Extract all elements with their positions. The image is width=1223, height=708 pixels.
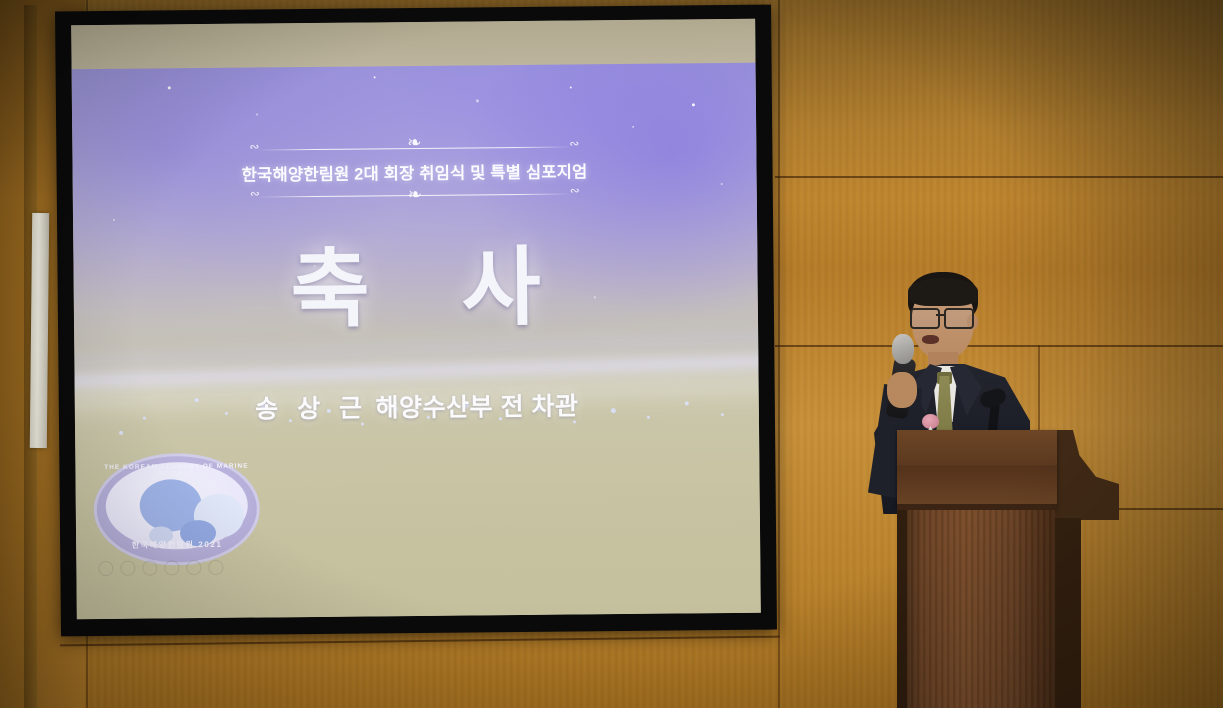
glasses-icon bbox=[910, 308, 976, 325]
sparkle bbox=[256, 114, 258, 116]
divider-top: ❧ ∾ ∾ bbox=[249, 138, 579, 157]
logo-watermark-icons bbox=[98, 560, 228, 577]
podium-top bbox=[897, 430, 1057, 508]
sparkle bbox=[113, 219, 115, 221]
watermark-circle-icon bbox=[120, 561, 135, 576]
sparkle bbox=[692, 103, 695, 106]
logo-arc-top-text: THE KOREAN ACADEMY OF MARINE SCIENCE bbox=[93, 463, 259, 479]
watermark-circle-icon bbox=[98, 561, 113, 576]
microphone-icon bbox=[892, 334, 914, 364]
sparkle bbox=[374, 76, 376, 78]
sparkle bbox=[632, 126, 634, 128]
podium-grain-texture bbox=[905, 510, 1055, 708]
speaker-rank: 차관 bbox=[531, 392, 578, 420]
hair-front bbox=[908, 278, 978, 306]
slide-main-title: 축 사 bbox=[73, 243, 758, 336]
speaker-affiliation: 해양수산부 전 bbox=[375, 393, 524, 422]
mouth bbox=[922, 335, 939, 344]
podium bbox=[897, 430, 1119, 708]
fleuron-icon: ❧ bbox=[408, 186, 422, 203]
hand bbox=[887, 372, 917, 408]
fleuron-icon: ❧ bbox=[407, 134, 421, 151]
glasses-lens-right bbox=[944, 308, 974, 329]
curl-left-icon: ∾ bbox=[249, 140, 259, 152]
academy-logo: THE KOREAN ACADEMY OF MARINE SCIENCE 한국해… bbox=[93, 453, 260, 567]
curl-right-icon: ∾ bbox=[570, 184, 580, 196]
logo-arc-bottom-text: 한국해양한림원 2021 bbox=[94, 539, 260, 552]
watermark-circle-icon bbox=[208, 560, 223, 575]
watermark-circle-icon bbox=[164, 560, 179, 575]
sparkle bbox=[119, 431, 123, 435]
podium-left-edge bbox=[897, 510, 907, 708]
sparkle bbox=[476, 99, 479, 102]
wall-white-strip bbox=[30, 213, 49, 448]
slide-header: ❧ ∾ ∾ 한국해양한림원 2대 회장 취임식 및 특별 심포지엄 ❧ ∾ ∾ bbox=[72, 137, 757, 207]
projection-screen: ❧ ∾ ∾ 한국해양한림원 2대 회장 취임식 및 특별 심포지엄 ❧ ∾ ∾ … bbox=[71, 19, 761, 620]
curl-right-icon: ∾ bbox=[569, 137, 579, 149]
watermark-circle-icon bbox=[142, 560, 157, 575]
projection-screen-frame: ❧ ∾ ∾ 한국해양한림원 2대 회장 취임식 및 특별 심포지엄 ❧ ∾ ∾ … bbox=[55, 5, 777, 637]
podium-side-wing bbox=[1047, 430, 1119, 520]
auditorium-photo: ❧ ∾ ∾ 한국해양한림원 2대 회장 취임식 및 특별 심포지엄 ❧ ∾ ∾ … bbox=[0, 0, 1223, 708]
curl-left-icon: ∾ bbox=[250, 187, 260, 199]
sparkle bbox=[570, 86, 572, 88]
sparkle bbox=[168, 86, 171, 89]
podium-body bbox=[905, 510, 1055, 708]
event-title: 한국해양한림원 2대 회장 취임식 및 특별 심포지엄 bbox=[72, 157, 756, 188]
speaker-name: 송 상 근 bbox=[255, 394, 368, 423]
watermark-circle-icon bbox=[186, 560, 201, 575]
glasses-lens-left bbox=[910, 308, 940, 329]
divider-bottom: ❧ ∾ ∾ bbox=[250, 185, 580, 204]
presentation-slide: ❧ ∾ ∾ 한국해양한림원 2대 회장 취임식 및 특별 심포지엄 ❧ ∾ ∾ … bbox=[72, 63, 761, 620]
slide-speaker-line: 송 상 근 해양수산부 전 차관 bbox=[75, 385, 759, 428]
